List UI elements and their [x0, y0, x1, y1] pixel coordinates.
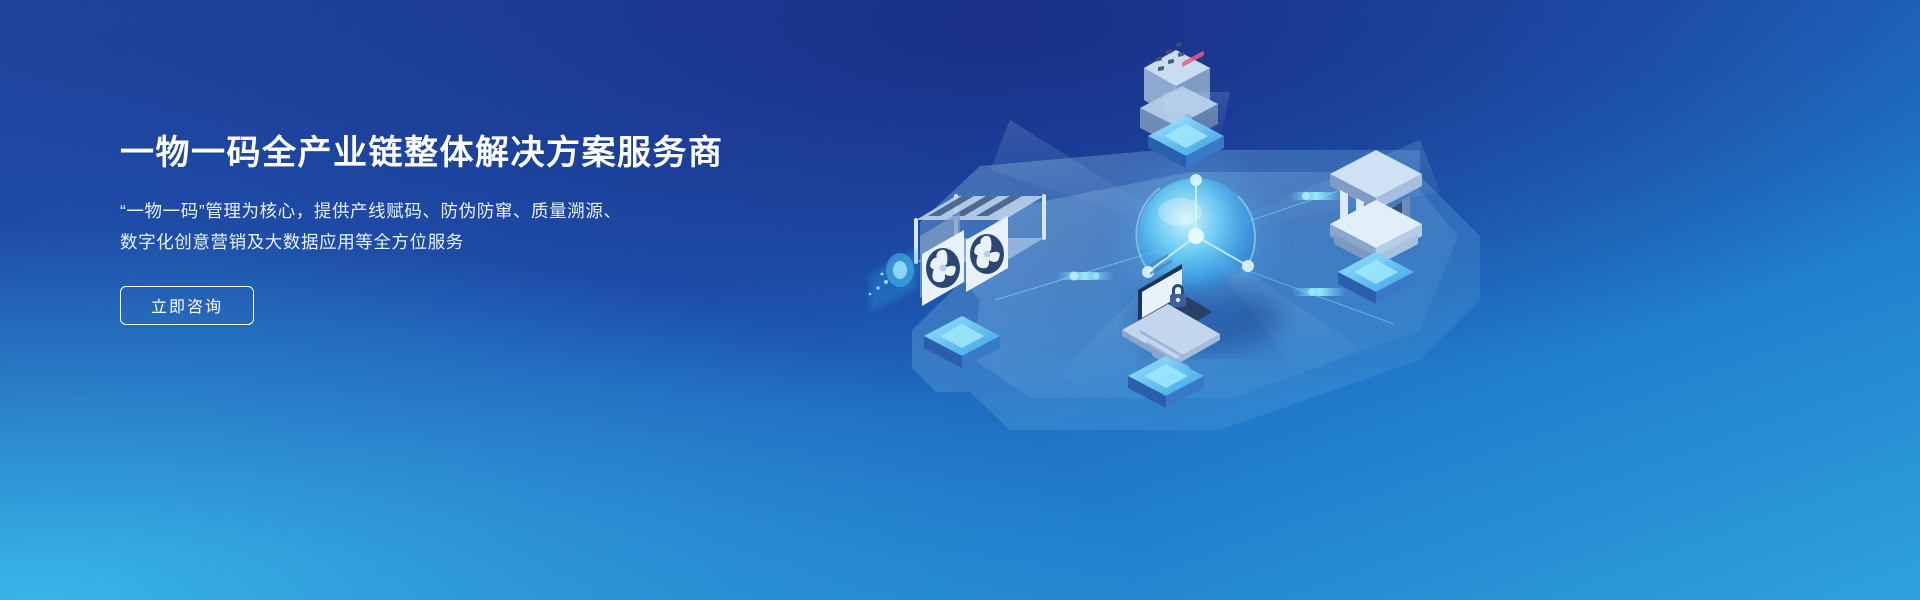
subtitle-line-2: 数字化创意营销及大数据应用等全方位服务	[120, 227, 840, 258]
subtitle-line-1: “一物一码”管理为核心，提供产线赋码、防伪防窜、质量溯源、	[120, 196, 840, 227]
hero-copy-block: 一物一码全产业链整体解决方案服务商 “一物一码”管理为核心，提供产线赋码、防伪防…	[120, 132, 840, 325]
bank-building-icon	[1330, 150, 1422, 266]
page-title: 一物一码全产业链整体解决方案服务商	[120, 132, 840, 175]
consult-now-button[interactable]: 立即咨询	[120, 286, 254, 325]
hero-banner: 一物一码全产业链整体解决方案服务商 “一物一码”管理为核心，提供产线赋码、防伪防…	[0, 0, 1920, 600]
isometric-illustration	[860, 0, 1540, 600]
hero-subtitle: “一物一码”管理为核心，提供产线赋码、防伪防窜、质量溯源、 数字化创意营销及大数…	[120, 196, 840, 258]
